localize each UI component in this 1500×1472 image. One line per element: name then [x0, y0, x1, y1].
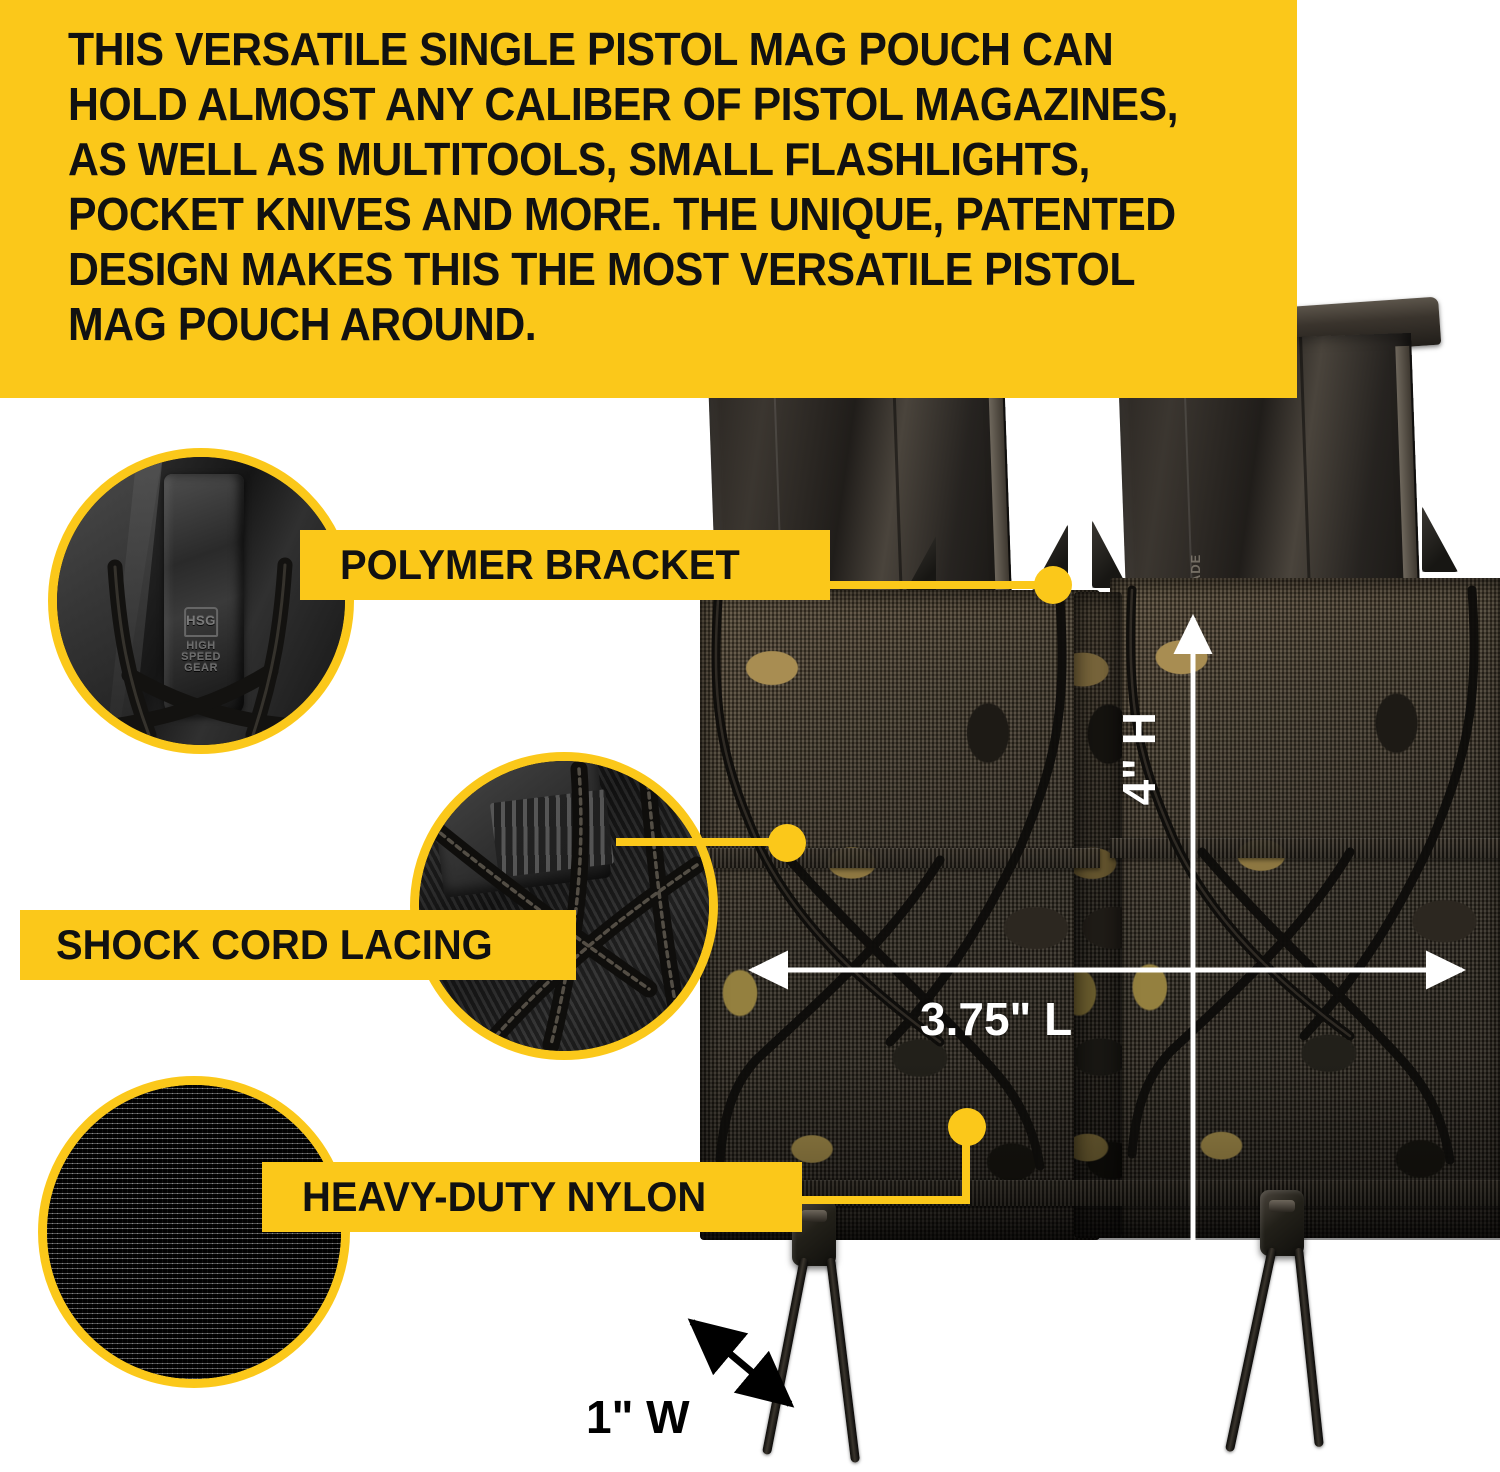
callout-shock-cord-lacing[interactable]: SHOCK CORD LACING — [20, 910, 576, 980]
header-banner: THIS VERSATILE SINGLE PISTOL MAG POUCH C… — [0, 0, 1297, 398]
infographic-canvas: MADE MADE — [0, 0, 1500, 1472]
detail-nylon-weave — [38, 1076, 350, 1388]
height-dimension-label: 4" H — [1112, 712, 1166, 805]
leader-dot-nylon — [948, 1108, 986, 1146]
callout-shock-cord-lacing-label: SHOCK CORD LACING — [56, 921, 493, 969]
length-dimension-label: 3.75" L — [920, 992, 1072, 1046]
cord-lock-right — [1260, 1190, 1304, 1256]
leader-dot-polymer — [1034, 566, 1072, 604]
header-description: THIS VERSATILE SINGLE PISTOL MAG POUCH C… — [68, 22, 1184, 352]
detail-polymer-bracket: HSG HIGH SPEED GEAR — [48, 448, 354, 754]
callout-heavy-duty-nylon-label: HEAVY-DUTY NYLON — [302, 1173, 706, 1221]
detail-shock-cord — [410, 752, 718, 1060]
leader-dot-shock — [768, 824, 806, 862]
product-photo: MADE MADE — [640, 300, 1500, 1472]
callout-polymer-bracket-label: POLYMER BRACKET — [340, 541, 740, 589]
shock-cord-lacing — [640, 300, 1500, 1300]
callout-heavy-duty-nylon[interactable]: HEAVY-DUTY NYLON — [262, 1162, 802, 1232]
callout-polymer-bracket[interactable]: POLYMER BRACKET — [300, 530, 830, 600]
width-dimension-label: 1" W — [586, 1390, 690, 1444]
